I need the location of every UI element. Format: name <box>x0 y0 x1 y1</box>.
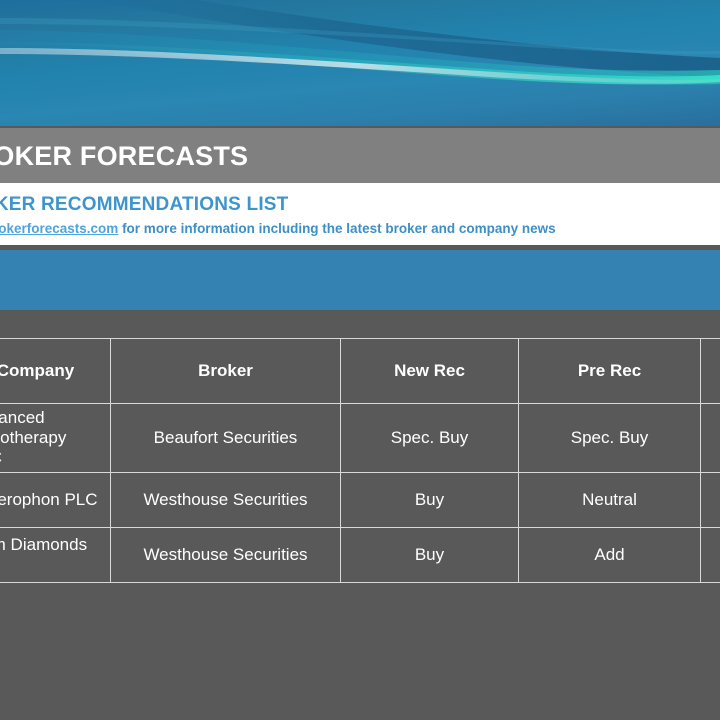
table-row[interactable]: Gem Diamonds Ltd Westhouse Securities Bu… <box>0 528 720 583</box>
col-header-company[interactable]: Company <box>0 339 111 404</box>
col-header-extra[interactable] <box>701 339 720 404</box>
col-header-pre-rec[interactable]: Pre Rec <box>519 339 701 404</box>
section-heading: BROKER RECOMMENDATIONS LIST <box>0 194 289 216</box>
broker-recommendations-table: Company Broker New Rec Pre Rec AdvancedO… <box>0 338 720 583</box>
blue-divider-band <box>0 250 720 310</box>
brokerforecasts-link[interactable]: www.brokerforecasts.com <box>0 221 118 236</box>
cell-new-rec: Buy <box>341 528 519 583</box>
col-header-broker[interactable]: Broker <box>111 339 341 404</box>
col-header-new-rec[interactable]: New Rec <box>341 339 519 404</box>
cell-broker: Beaufort Securities <box>111 404 341 473</box>
recommendations-table-wrap: Company Broker New Rec Pre Rec AdvancedO… <box>0 338 720 583</box>
title-bar: BROKER FORECASTS <box>0 128 720 183</box>
table-row[interactable]: AdvancedOncotherapy PLC Beaufort Securit… <box>0 404 720 473</box>
table-row[interactable]: Bellerophon PLC Westhouse Securities Buy… <box>0 473 720 528</box>
info-tagline: www.brokerforecasts.com for more informa… <box>0 221 556 236</box>
header-banner <box>0 0 720 126</box>
cell-extra <box>701 528 720 583</box>
page-title: BROKER FORECASTS <box>0 141 248 172</box>
cell-pre-rec: Neutral <box>519 473 701 528</box>
table-header-row: Company Broker New Rec Pre Rec <box>0 339 720 404</box>
cell-new-rec: Buy <box>341 473 519 528</box>
banner-wave-graphic <box>0 0 720 126</box>
cell-new-rec: Spec. Buy <box>341 404 519 473</box>
info-block: BROKER RECOMMENDATIONS LIST www.brokerfo… <box>0 183 720 245</box>
cell-company: AdvancedOncotherapy PLC <box>0 404 111 473</box>
cell-pre-rec: Spec. Buy <box>519 404 701 473</box>
cell-company: Gem Diamonds Ltd <box>0 528 111 583</box>
cell-extra <box>701 404 720 473</box>
cell-broker: Westhouse Securities <box>111 473 341 528</box>
page-root: BROKER FORECASTS BROKER RECOMMENDATIONS … <box>0 0 720 720</box>
cell-extra <box>701 473 720 528</box>
cell-pre-rec: Add <box>519 528 701 583</box>
cell-broker: Westhouse Securities <box>111 528 341 583</box>
info-tagline-text: for more information including the lates… <box>118 221 555 236</box>
cell-company: Bellerophon PLC <box>0 473 111 528</box>
